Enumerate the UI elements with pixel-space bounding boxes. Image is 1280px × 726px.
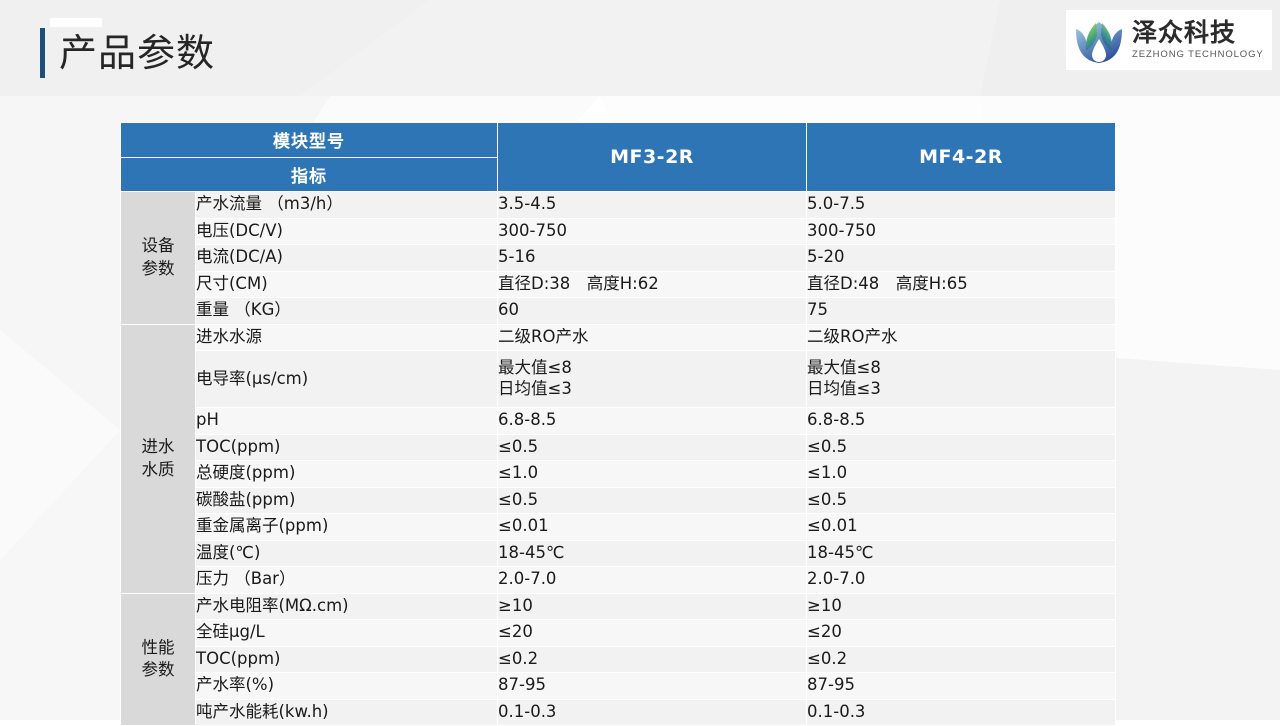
table-row: 碳酸盐(ppm)≤0.5≤0.5: [121, 487, 1116, 514]
table-item-label: 全硅μg/L: [196, 620, 498, 647]
table-value-cell-col2: ≥10: [807, 593, 1116, 620]
table-row: 电导率(μs/cm)最大值≤8 日均值≤3最大值≤8 日均值≤3: [121, 351, 1116, 408]
table-row: 温度(℃)18-45℃18-45℃: [121, 540, 1116, 567]
page-title-group: 产品参数: [40, 28, 215, 78]
table-item-label: TOC(ppm): [196, 646, 498, 673]
table-row: 设备 参数产水流量 （m3/h）3.5-4.55.0-7.5: [121, 192, 1116, 219]
table-value-cell-col1: ≤0.01: [498, 514, 807, 541]
table-item-label: pH: [196, 408, 498, 435]
table-value-cell-col1: ≥10: [498, 593, 807, 620]
table-value-cell-col1: 0.1-0.3: [498, 699, 807, 726]
leaf-droplet-logo-icon: [1072, 15, 1126, 65]
table-category-cell-1: 设备 参数: [121, 192, 196, 325]
table-item-label: 重量 （KG）: [196, 298, 498, 325]
table-value-cell-col2: 二级RO产水: [807, 324, 1116, 351]
table-row: 性能 参数产水电阻率(MΩ.cm)≥10≥10: [121, 593, 1116, 620]
table-item-label: TOC(ppm): [196, 434, 498, 461]
table-header-row-model: 模块型号MF3-2RMF4-2R: [121, 123, 1116, 158]
table-value-cell-col2: 5.0-7.5: [807, 192, 1116, 219]
table-row: 总硬度(ppm)≤1.0≤1.0: [121, 461, 1116, 488]
table-item-label: 产水率(%): [196, 673, 498, 700]
title-accent-bar: [40, 28, 45, 78]
table-corner-index-label: 指标: [121, 157, 498, 192]
table-value-cell-col2: ≤1.0: [807, 461, 1116, 488]
table-row: 电流(DC/A)5-165-20: [121, 245, 1116, 272]
table-row: 吨产水能耗(kw.h)0.1-0.30.1-0.3: [121, 699, 1116, 726]
table-value-cell-col1: 最大值≤8 日均值≤3: [498, 351, 807, 408]
table-row: 电压(DC/V)300-750300-750: [121, 218, 1116, 245]
table-item-label: 电压(DC/V): [196, 218, 498, 245]
table-item-label: 电流(DC/A): [196, 245, 498, 272]
logo-text-group: 泽众科技 ZEZHONG TECHNOLOGY: [1132, 20, 1264, 59]
table-value-cell-col1: 60: [498, 298, 807, 325]
table-row: 全硅μg/L≤20≤20: [121, 620, 1116, 647]
table-value-cell-col1: 300-750: [498, 218, 807, 245]
table-row: 产水率(%)87-9587-95: [121, 673, 1116, 700]
table-value-cell-col2: 75: [807, 298, 1116, 325]
table-value-cell-col2: 300-750: [807, 218, 1116, 245]
table-value-cell-col1: 6.8-8.5: [498, 408, 807, 435]
table-value-cell-col1: 18-45℃: [498, 540, 807, 567]
table-item-label: 总硬度(ppm): [196, 461, 498, 488]
table-item-label: 尺寸(CM): [196, 271, 498, 298]
title-tab-decoration: [50, 18, 102, 27]
table-value-cell-col1: ≤0.2: [498, 646, 807, 673]
product-spec-table-container: 模块型号MF3-2RMF4-2R指标设备 参数产水流量 （m3/h）3.5-4.…: [120, 122, 1115, 726]
table-value-cell-col2: ≤0.5: [807, 487, 1116, 514]
table-value-cell-col2: 2.0-7.0: [807, 567, 1116, 594]
table-value-cell-col2: ≤0.2: [807, 646, 1116, 673]
table-row: 重金属离子(ppm)≤0.01≤0.01: [121, 514, 1116, 541]
table-row: 尺寸(CM)直径D:38 高度H:62直径D:48 高度H:65: [121, 271, 1116, 298]
table-value-cell-col1: 直径D:38 高度H:62: [498, 271, 807, 298]
table-item-label: 产水电阻率(MΩ.cm): [196, 593, 498, 620]
table-value-cell-col2: 直径D:48 高度H:65: [807, 271, 1116, 298]
table-value-cell-col1: ≤20: [498, 620, 807, 647]
table-item-label: 进水水源: [196, 324, 498, 351]
table-row: pH6.8-8.56.8-8.5: [121, 408, 1116, 435]
table-value-cell-col1: 二级RO产水: [498, 324, 807, 351]
table-value-cell-col2: 87-95: [807, 673, 1116, 700]
table-column-header-2: MF4-2R: [807, 123, 1116, 192]
table-row: 进水 水质进水水源二级RO产水二级RO产水: [121, 324, 1116, 351]
table-item-label: 压力 （Bar）: [196, 567, 498, 594]
table-value-cell-col2: 6.8-8.5: [807, 408, 1116, 435]
table-value-cell-col2: 最大值≤8 日均值≤3: [807, 351, 1116, 408]
table-category-cell-3: 性能 参数: [121, 593, 196, 726]
table-item-label: 温度(℃): [196, 540, 498, 567]
table-value-cell-col2: 18-45℃: [807, 540, 1116, 567]
table-value-cell-col1: ≤0.5: [498, 434, 807, 461]
table-item-label: 电导率(μs/cm): [196, 351, 498, 408]
table-item-label: 吨产水能耗(kw.h): [196, 699, 498, 726]
table-item-label: 重金属离子(ppm): [196, 514, 498, 541]
table-value-cell-col2: ≤0.01: [807, 514, 1116, 541]
logo-company-name-cn: 泽众科技: [1132, 20, 1264, 46]
table-row: TOC(ppm)≤0.5≤0.5: [121, 434, 1116, 461]
table-item-label: 产水流量 （m3/h）: [196, 192, 498, 219]
table-category-cell-2: 进水 水质: [121, 324, 196, 593]
table-row: 重量 （KG）6075: [121, 298, 1116, 325]
product-spec-table: 模块型号MF3-2RMF4-2R指标设备 参数产水流量 （m3/h）3.5-4.…: [120, 122, 1116, 726]
table-column-header-1: MF3-2R: [498, 123, 807, 192]
table-row: TOC(ppm)≤0.2≤0.2: [121, 646, 1116, 673]
company-logo: 泽众科技 ZEZHONG TECHNOLOGY: [1066, 10, 1272, 70]
page-title: 产品参数: [59, 34, 215, 72]
table-value-cell-col1: ≤0.5: [498, 487, 807, 514]
table-value-cell-col1: 2.0-7.0: [498, 567, 807, 594]
table-row: 压力 （Bar）2.0-7.02.0-7.0: [121, 567, 1116, 594]
table-value-cell-col1: 87-95: [498, 673, 807, 700]
slide-header: 产品参数: [0, 0, 1280, 92]
table-value-cell-col2: ≤20: [807, 620, 1116, 647]
table-value-cell-col2: 5-20: [807, 245, 1116, 272]
table-value-cell-col1: ≤1.0: [498, 461, 807, 488]
table-value-cell-col1: 3.5-4.5: [498, 192, 807, 219]
table-value-cell-col2: 0.1-0.3: [807, 699, 1116, 726]
table-corner-model-label: 模块型号: [121, 123, 498, 158]
table-value-cell-col1: 5-16: [498, 245, 807, 272]
table-item-label: 碳酸盐(ppm): [196, 487, 498, 514]
logo-company-name-en: ZEZHONG TECHNOLOGY: [1132, 49, 1264, 60]
table-value-cell-col2: ≤0.5: [807, 434, 1116, 461]
